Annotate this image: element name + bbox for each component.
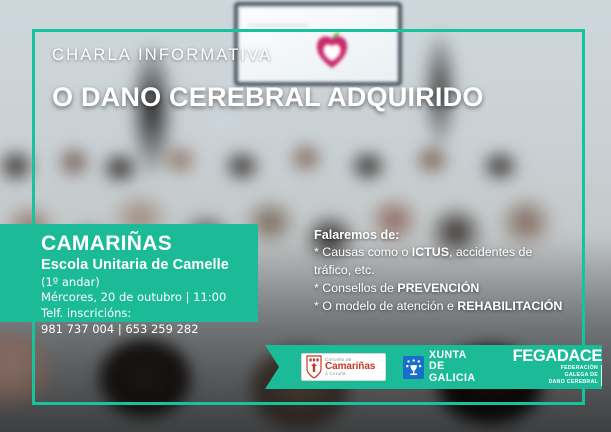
xunta-wordmark: XUNTA DE GALICIA bbox=[429, 350, 490, 384]
xunta-chalice-icon bbox=[403, 356, 424, 379]
fegadace-tagline: FEDERACIÓN GALEGA DE DANO CEREBRAL bbox=[513, 365, 602, 386]
event-info-panel: CAMARIÑAS Escola Unitaria de Camelle (1º… bbox=[0, 224, 258, 322]
kicker-text: CHARLA INFORMATIVA bbox=[52, 46, 452, 65]
event-datetime: Mércores, 20 de outubro | 11:00 bbox=[41, 290, 258, 305]
logo-fegadace: FEGADACE FEDERACIÓN GALEGA DE DANO CEREB… bbox=[513, 348, 602, 386]
headline-block: CHARLA INFORMATIVA O DANO CEREBRAL ADQUI… bbox=[52, 46, 452, 113]
bullet-3-part-a: * O modelo de atención e bbox=[314, 299, 457, 313]
phone-numbers: 981 737 004 | 653 259 282 bbox=[41, 322, 258, 337]
logo-xunta-de-galicia: XUNTA DE GALICIA bbox=[403, 350, 490, 384]
camarinas-line3: A Coruña bbox=[325, 372, 375, 376]
poster: CHARLA INFORMATIVA O DANO CEREBRAL ADQUI… bbox=[0, 0, 611, 432]
talk-topics-block: Falaremos de: * Causas como o ICTUS, acc… bbox=[314, 226, 582, 316]
talk-bullet-3: * O modelo de atención e REHABILITACIÓN bbox=[314, 298, 582, 316]
bullet-1-part-a: * Causas como o bbox=[314, 245, 412, 259]
bullet-1-emphasis: ICTUS bbox=[412, 245, 449, 259]
talk-heading: Falaremos de: bbox=[314, 226, 582, 244]
bullet-2-emphasis: PREVENCIÓN bbox=[397, 281, 479, 295]
bullet-3-emphasis: REHABILITACIÓN bbox=[457, 299, 562, 313]
phone-label: Telf. inscricións: bbox=[41, 306, 258, 321]
fegadace-wordmark: FEGADACE bbox=[513, 348, 602, 365]
venue-floor: (1º andar) bbox=[41, 275, 258, 290]
logo-concello-camarinas: Concello de Camariñas A Coruña bbox=[301, 353, 386, 381]
bullet-1-part-c: , accidentes de bbox=[449, 245, 532, 259]
coat-of-arms-icon bbox=[306, 355, 322, 379]
page-title: O DANO CEREBRAL ADQUIRIDO bbox=[52, 82, 460, 113]
camarinas-wordmark: Concello de Camariñas A Coruña bbox=[325, 358, 375, 377]
sponsor-logo-bar: Concello de Camariñas A Coruña XUNTA DE … bbox=[265, 345, 602, 389]
talk-bullet-2: * Consellos de PREVENCIÓN bbox=[314, 280, 582, 298]
fegadace-sub3: DANO CEREBRAL bbox=[513, 379, 598, 386]
xunta-line2: DE GALICIA bbox=[429, 361, 490, 384]
fegadace-sub2: GALEGA DE bbox=[513, 372, 598, 379]
venue-name: Escola Unitaria de Camelle bbox=[41, 257, 258, 274]
fegadace-sub1: FEDERACIÓN bbox=[513, 365, 598, 372]
talk-bullet-1-cont: tráfico, etc. bbox=[314, 262, 582, 280]
town-name: CAMARIÑAS bbox=[41, 233, 258, 255]
screen-text-line bbox=[248, 24, 308, 27]
bullet-2-part-a: * Consellos de bbox=[314, 281, 397, 295]
talk-bullet-1: * Causas como o ICTUS, accidentes de bbox=[314, 244, 582, 262]
